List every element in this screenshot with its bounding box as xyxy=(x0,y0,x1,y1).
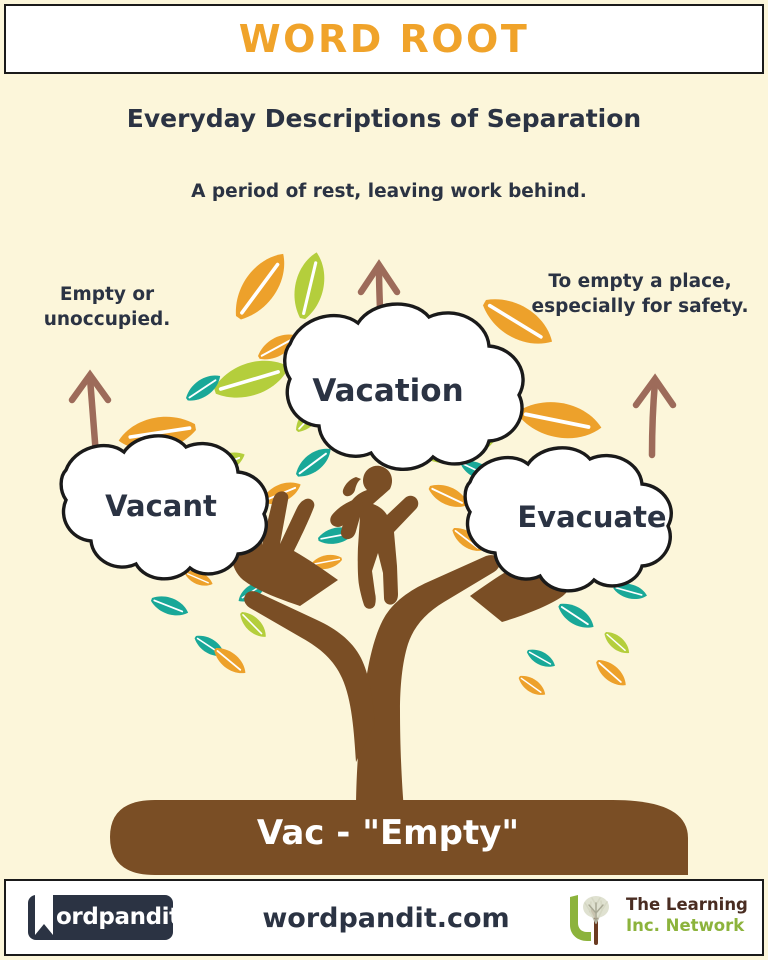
the-learning-inc-network-logo[interactable]: The Learning Inc. Network xyxy=(562,891,748,947)
footer-bar: ordpandit wordpandit.com xyxy=(4,879,764,956)
bubble-label-vacation: Vacation xyxy=(238,373,538,409)
partner-line-1: The Learning xyxy=(626,895,748,916)
arrow-up-icon-left xyxy=(72,375,108,455)
root-word-label: Vac - "Empty" xyxy=(155,813,621,853)
partner-name: The Learning Inc. Network xyxy=(626,895,748,936)
arrow-up-icon-right xyxy=(636,379,673,455)
partner-line-2: Inc. Network xyxy=(626,916,748,937)
tree-logo-icon xyxy=(562,891,622,947)
jumping-child-icon xyxy=(330,466,418,609)
bubble-label-evacuate: Evacuate xyxy=(462,500,722,534)
infographic-poster: WORD ROOT Everyday Descriptions of Separ… xyxy=(0,0,768,960)
bubble-label-vacant: Vacant xyxy=(35,489,287,523)
